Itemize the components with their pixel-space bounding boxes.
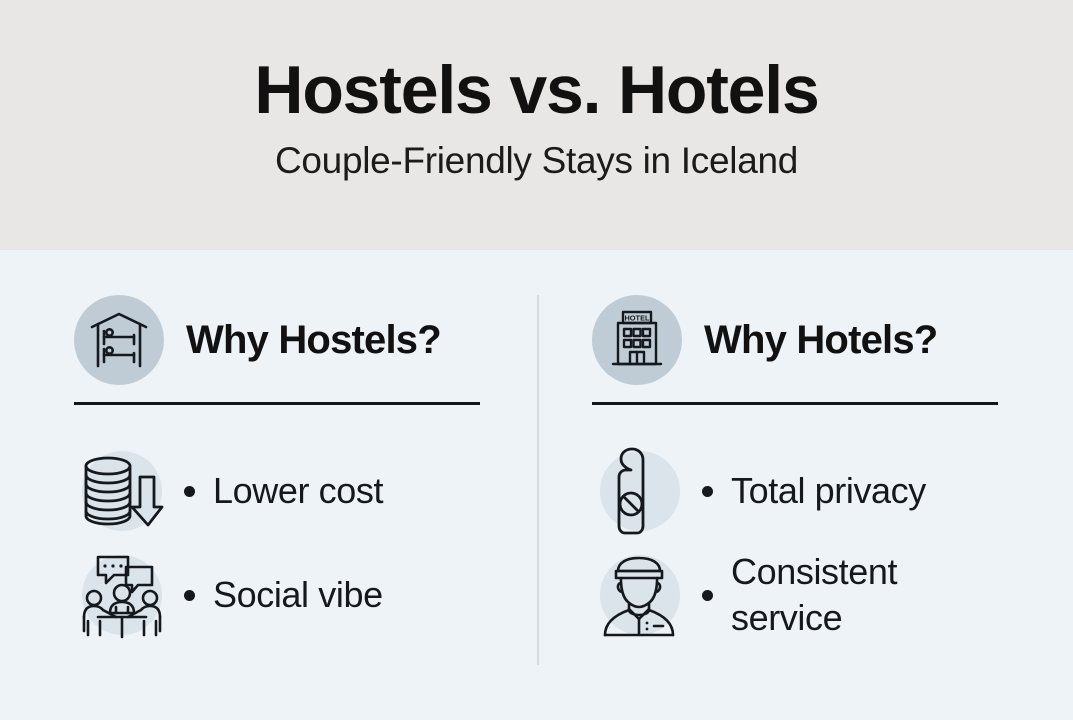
list-item-label: Consistent service (731, 549, 941, 641)
column-title-hotels: Why Hotels? (704, 320, 937, 360)
column-heading-hotels: HOTEL Why Hotels? (578, 292, 1048, 388)
column-hostels: Why Hostels? (60, 250, 530, 647)
benefit-list-hostels: Lower cost (60, 439, 530, 647)
infographic-canvas: Hostels vs. Hotels Couple-Friendly Stays… (0, 0, 1073, 720)
page-subtitle: Couple-Friendly Stays in Iceland (275, 142, 798, 179)
content-area: Why Hostels? (0, 250, 1073, 720)
list-item: Social vibe (60, 543, 530, 647)
coin-stack-down-arrow-icon (74, 443, 170, 539)
header-band: Hostels vs. Hotels Couple-Friendly Stays… (0, 0, 1073, 250)
list-item-label: Social vibe (213, 572, 383, 618)
heading-rule-hotels (592, 402, 998, 405)
heading-rule-hostels (74, 402, 480, 405)
list-item: Consistent service (578, 543, 1048, 647)
svg-text:HOTEL: HOTEL (624, 314, 650, 323)
do-not-disturb-door-hanger-icon (592, 443, 688, 539)
list-item: Lower cost (60, 439, 530, 543)
list-item-label: Lower cost (213, 468, 383, 514)
column-divider (537, 295, 539, 665)
list-item: Total privacy (578, 439, 1048, 543)
bunk-bed-hostel-icon (74, 295, 164, 385)
bullet-marker (702, 486, 713, 497)
column-heading-hostels: Why Hostels? (60, 292, 530, 388)
people-chat-table-icon (74, 547, 170, 643)
benefit-list-hotels: Total privacy (578, 439, 1048, 647)
column-title-hostels: Why Hostels? (186, 320, 441, 360)
bullet-marker (184, 590, 195, 601)
column-hotels: HOTEL Why Hotels? (578, 250, 1048, 647)
bullet-marker (702, 590, 713, 601)
hotel-building-icon: HOTEL (592, 295, 682, 385)
bullet-marker (184, 486, 195, 497)
concierge-bellhop-icon (592, 547, 688, 643)
list-item-label: Total privacy (731, 468, 926, 514)
page-title: Hostels vs. Hotels (254, 56, 818, 124)
